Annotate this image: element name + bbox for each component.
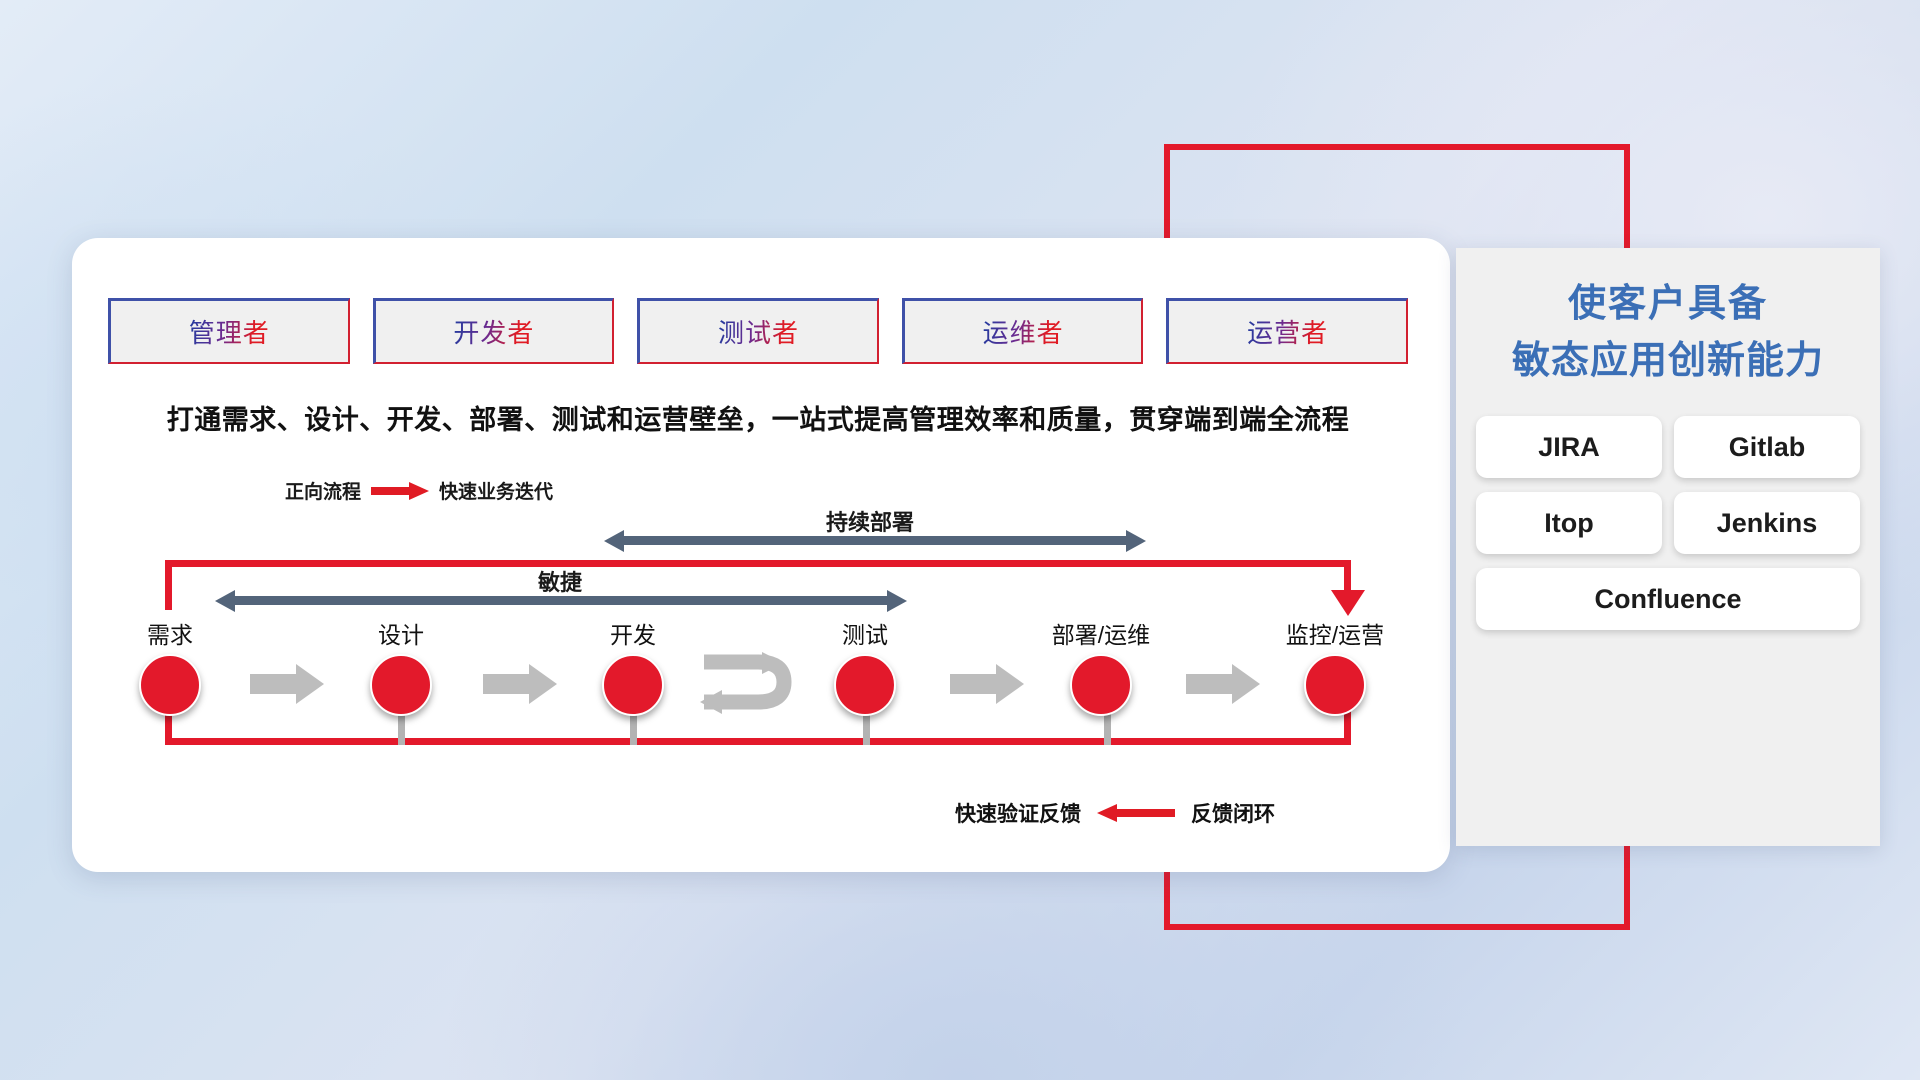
tool-confluence[interactable]: Confluence (1476, 568, 1860, 630)
gray-arrow-4-icon (1186, 664, 1260, 704)
arrow-head-right (996, 664, 1024, 704)
tool-jira[interactable]: JIRA (1476, 416, 1662, 478)
continuous-deployment-arrow-icon (604, 530, 1146, 552)
role-label: 运维者 (983, 313, 1064, 350)
stage-dot (834, 654, 896, 716)
panel-title-line2: 敏态应用创新能力 (1456, 333, 1880, 390)
stage-label: 需求 (95, 616, 245, 650)
stage-monitor-operations[interactable]: 监控/运营 (1260, 616, 1410, 716)
stage-label: 设计 (326, 616, 476, 650)
feedback-loop-label: 反馈闭环 (1191, 798, 1275, 828)
feedback-loop-arrow-down-icon (1331, 590, 1365, 616)
stage-label: 部署/运维 (1026, 616, 1176, 650)
role-box-ops[interactable]: 运维者 (902, 298, 1144, 364)
tool-gitlab[interactable]: Gitlab (1674, 416, 1860, 478)
red-bracket-top (1164, 144, 1630, 244)
loop-back-arrow-icon (700, 652, 800, 730)
stage-develop[interactable]: 开发 (558, 616, 708, 716)
arrow-bar (250, 674, 296, 694)
role-label: 运营者 (1247, 313, 1328, 350)
arrow-bar (1186, 674, 1232, 694)
arrow-head-right (296, 664, 324, 704)
stage-dot (1304, 654, 1366, 716)
feedback-loop-top-line (165, 560, 1351, 567)
stage-test[interactable]: 测试 (790, 616, 940, 716)
slide-canvas: 管理者 开发者 测试者 运维者 运营者 打通需求、设计、开发、部署、测试和运营壁… (0, 0, 1920, 1080)
panel-title-line1: 使客户具备 (1456, 276, 1880, 333)
role-box-row: 管理者 开发者 测试者 运维者 运营者 (108, 298, 1408, 364)
stage-label: 开发 (558, 616, 708, 650)
arrow-left-red-icon (1097, 804, 1175, 822)
arrow-right-red-icon (371, 482, 429, 500)
feedback-loop-legend: 快速验证反馈 反馈闭环 (955, 798, 1275, 828)
role-label: 管理者 (189, 313, 270, 350)
feedback-loop-left-segment (165, 560, 172, 610)
agile-arrow-icon (215, 590, 907, 612)
forward-flow-legend: 正向流程 快速业务迭代 (285, 477, 553, 504)
stage-label: 测试 (790, 616, 940, 650)
role-box-developer[interactable]: 开发者 (373, 298, 615, 364)
arrow-bar (620, 536, 1130, 545)
stage-label: 监控/运营 (1260, 616, 1410, 650)
arrow-head-right (529, 664, 557, 704)
fast-validation-label: 快速验证反馈 (955, 798, 1081, 828)
arrow-head-right (887, 590, 907, 612)
role-box-operations[interactable]: 运营者 (1166, 298, 1408, 364)
gray-arrow-3-icon (950, 664, 1024, 704)
stage-dot (1070, 654, 1132, 716)
gray-arrow-1-icon (250, 664, 324, 704)
panel-title: 使客户具备 敏态应用创新能力 (1456, 276, 1880, 390)
value-proposition-panel: 使客户具备 敏态应用创新能力 JIRA Gitlab Itop Jenkins … (1456, 248, 1880, 846)
arrow-bar (483, 674, 529, 694)
stage-dot (370, 654, 432, 716)
role-box-tester[interactable]: 测试者 (637, 298, 879, 364)
role-box-manager[interactable]: 管理者 (108, 298, 350, 364)
gray-arrow-2-icon (483, 664, 557, 704)
arrow-bar (231, 596, 891, 605)
stage-design[interactable]: 设计 (326, 616, 476, 716)
stage-dot (139, 654, 201, 716)
role-label: 测试者 (718, 313, 799, 350)
arrow-bar (950, 674, 996, 694)
description-text: 打通需求、设计、开发、部署、测试和运营壁垒，一站式提高管理效率和质量，贯穿端到端… (108, 398, 1408, 437)
role-label: 开发者 (453, 313, 534, 350)
feedback-loop-bottom-line (165, 738, 1351, 745)
tool-list: JIRA Gitlab Itop Jenkins Confluence (1456, 416, 1880, 630)
stage-requirement[interactable]: 需求 (95, 616, 245, 716)
tool-jenkins[interactable]: Jenkins (1674, 492, 1860, 554)
forward-flow-label: 正向流程 (285, 477, 361, 504)
stage-dot (602, 654, 664, 716)
tool-itop[interactable]: Itop (1476, 492, 1662, 554)
arrow-head-right (1232, 664, 1260, 704)
fast-iteration-label: 快速业务迭代 (439, 477, 553, 504)
arrow-head-right (1126, 530, 1146, 552)
stage-deploy-ops[interactable]: 部署/运维 (1026, 616, 1176, 716)
